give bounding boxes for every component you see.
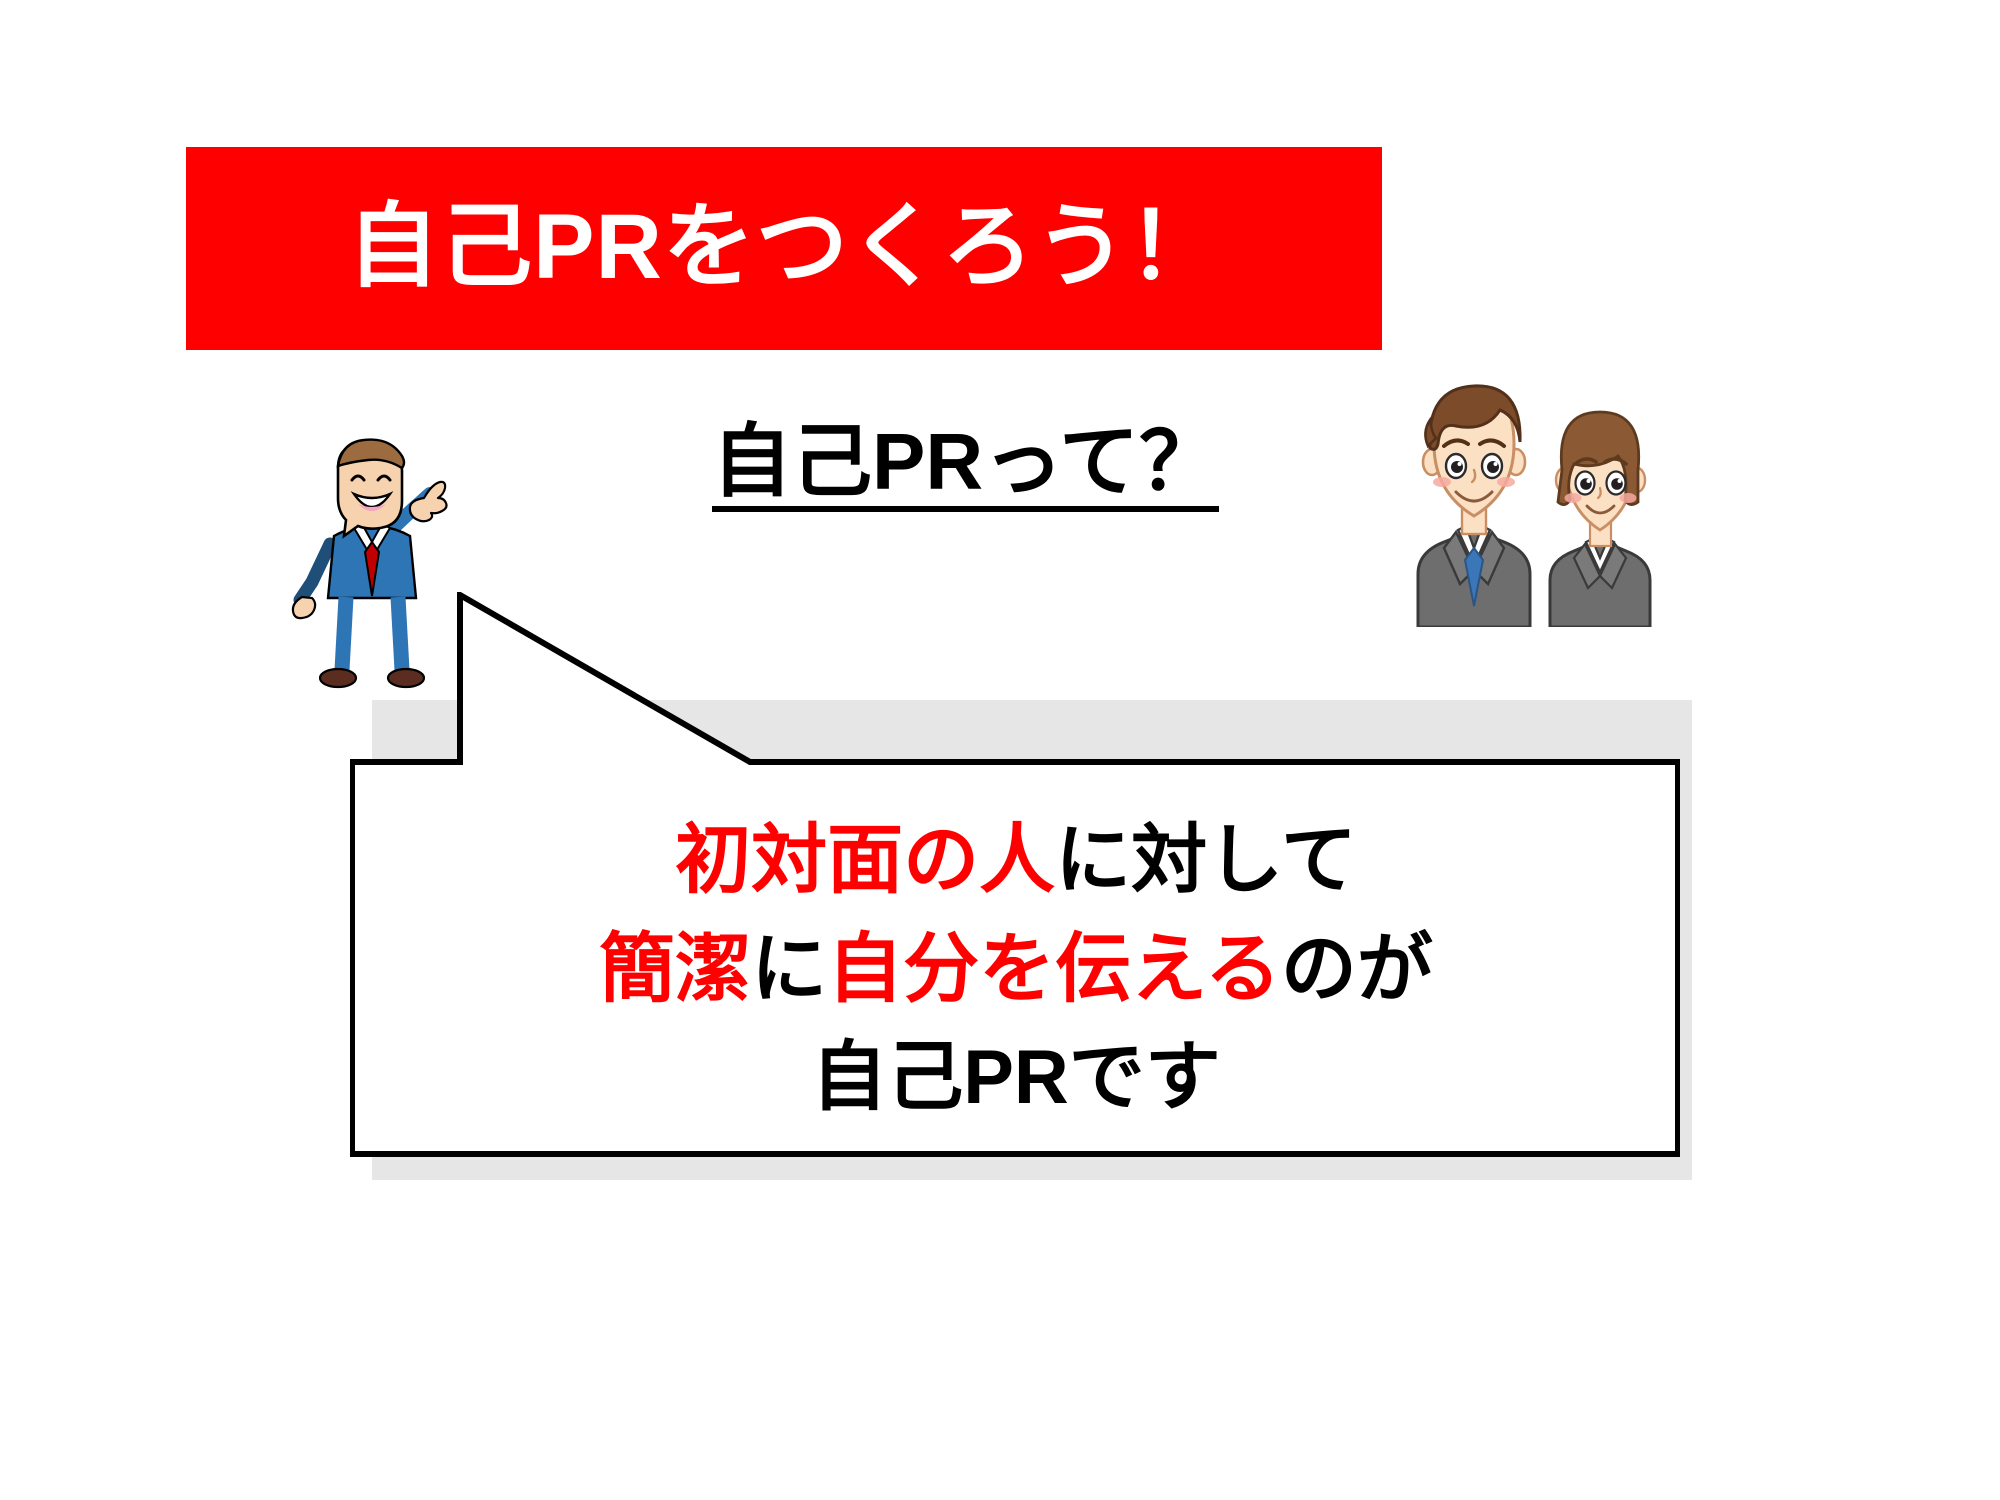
subtitle-container: 自己PRって？: [712, 420, 1332, 540]
slide-canvas: 自己PRをつくろう！ 自己PRって？: [0, 0, 2000, 1500]
bubble-line-2-seg-4: のが: [1281, 927, 1433, 1012]
bubble-line-3-seg-1: 自己PRです: [811, 1035, 1221, 1120]
bubble-line-2: 簡潔に自分を伝えるのが: [599, 921, 1433, 1020]
bubble-line-2-seg-3: 自分を伝える: [827, 927, 1281, 1012]
speech-bubble-text: 初対面の人に対して 簡潔に自分を伝えるのが 自己PRです: [356, 760, 1676, 1180]
bubble-line-1-seg-1: 初対面の人: [675, 818, 1055, 903]
bubble-line-2-seg-1: 簡潔: [599, 927, 751, 1012]
bubble-line-1-seg-2: に対して: [1055, 818, 1357, 903]
subtitle-heading: 自己PRって？: [712, 420, 1219, 512]
young-couple-illustration: [1382, 352, 1692, 627]
bubble-line-3: 自己PRです: [811, 1029, 1221, 1128]
bubble-line-1: 初対面の人に対して: [675, 812, 1357, 911]
bubble-line-2-seg-2: に: [751, 927, 827, 1012]
title-banner: 自己PRをつくろう！: [186, 147, 1382, 350]
slide-title: 自己PRをつくろう！: [347, 201, 1221, 293]
couple-man: [1418, 386, 1530, 627]
